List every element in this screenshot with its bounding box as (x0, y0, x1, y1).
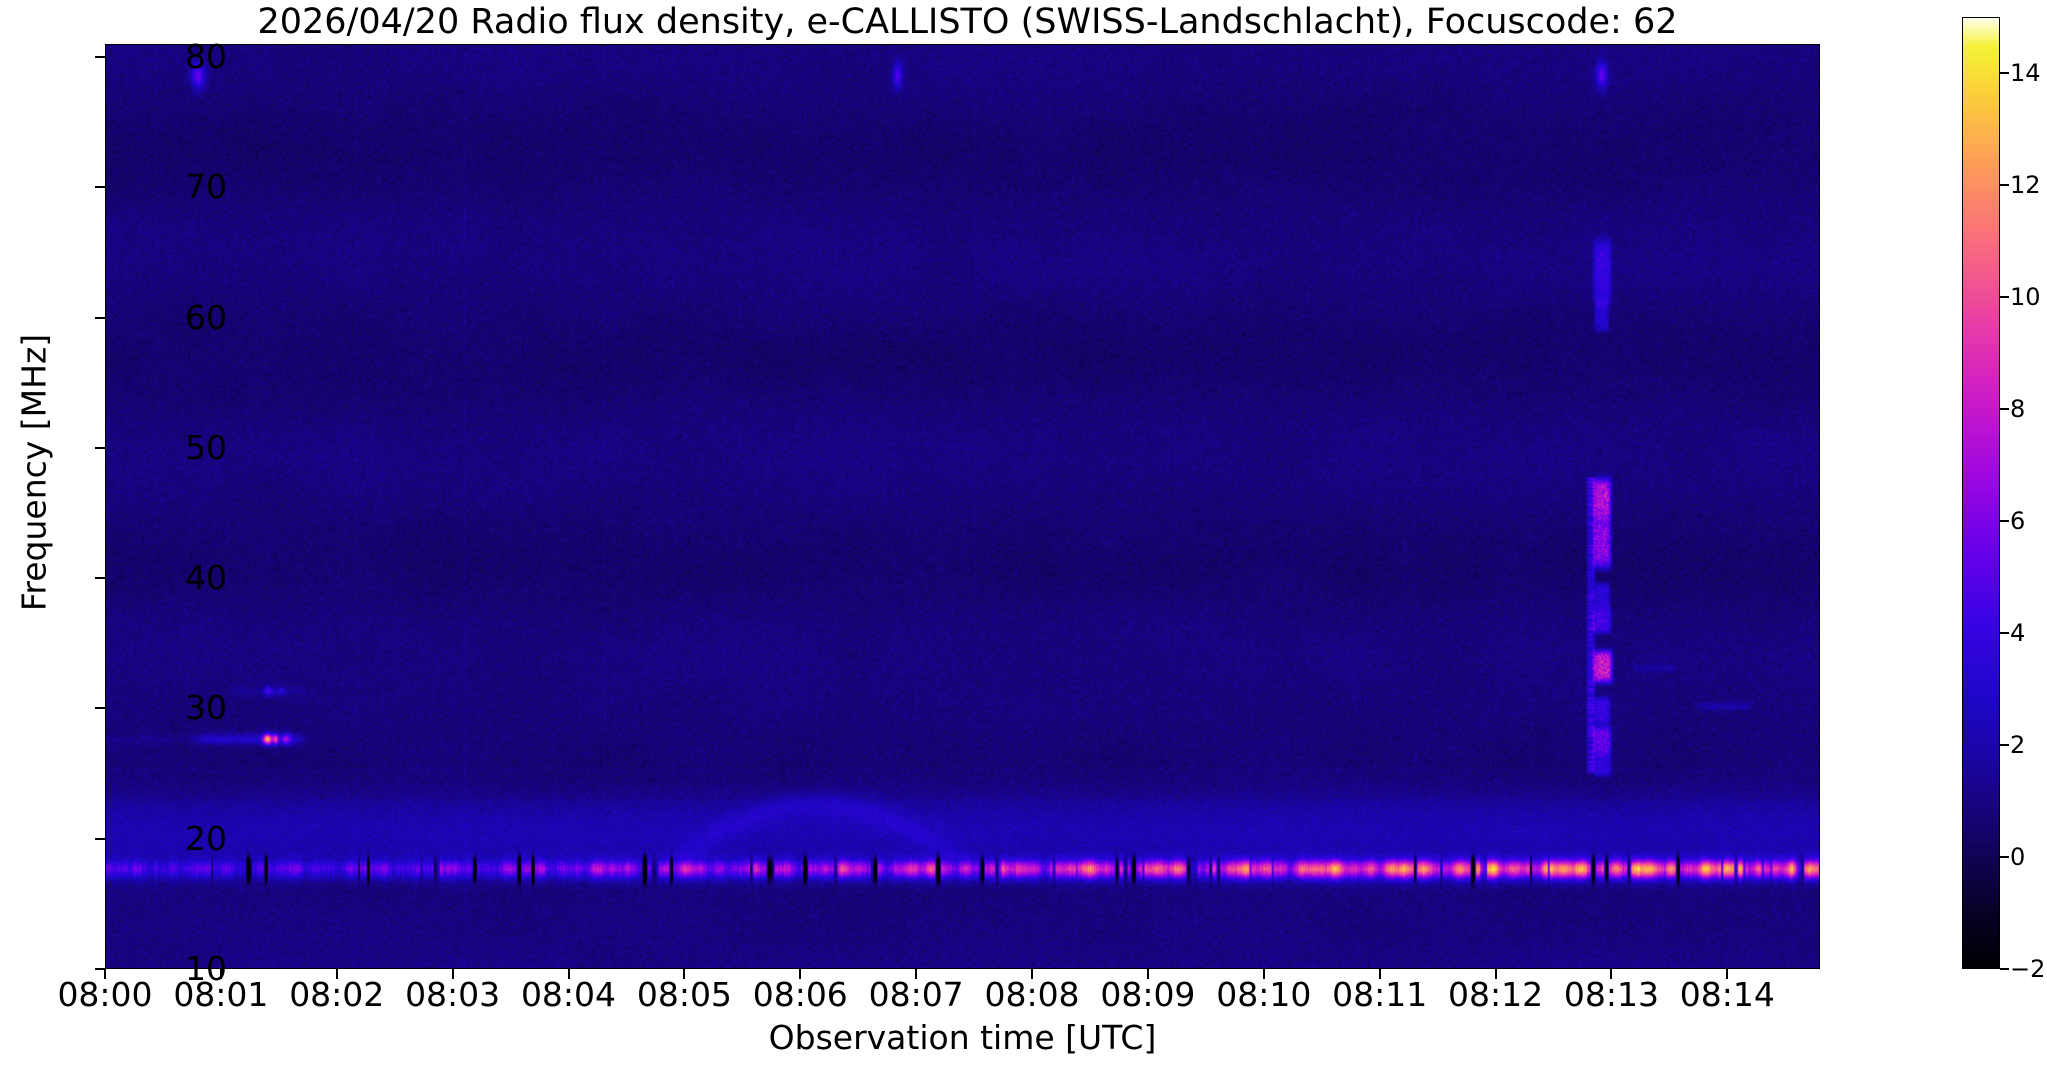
spectrogram-image (105, 44, 1820, 969)
y-tick-mark (95, 447, 105, 449)
y-tick-mark (95, 577, 105, 579)
x-tick-mark (1726, 969, 1728, 979)
y-tick-mark (95, 186, 105, 188)
colorbar-tick-mark (2000, 632, 2009, 634)
x-tick-mark (799, 969, 801, 979)
colorbar-tick-label: 0 (2010, 845, 2025, 869)
colorbar-tick-label: 14 (2010, 61, 2041, 85)
x-tick-label: 08:14 (1627, 978, 1827, 1011)
colorbar-tick-mark (2000, 968, 2009, 970)
colorbar-tick-mark (2000, 72, 2009, 74)
y-tick-mark (95, 317, 105, 319)
spectrogram-figure: 2026/04/20 Radio flux density, e-CALLIST… (0, 0, 2047, 1067)
x-tick-mark (1147, 969, 1149, 979)
colorbar-tick-label: 2 (2010, 733, 2025, 757)
colorbar-tick-mark (2000, 408, 2009, 410)
x-axis-label: Observation time [UTC] (105, 1020, 1820, 1056)
y-axis-label: Frequency [MHz] (18, 73, 51, 873)
x-tick-mark (1031, 969, 1033, 979)
colorbar-tick-label: 6 (2010, 509, 2025, 533)
y-tick-mark (95, 838, 105, 840)
colorbar-tick-label: 12 (2010, 173, 2041, 197)
x-tick-mark (1610, 969, 1612, 979)
x-tick-mark (915, 969, 917, 979)
colorbar-tick-label: 10 (2010, 285, 2041, 309)
colorbar-tick-mark (2000, 856, 2009, 858)
y-tick-mark (95, 56, 105, 58)
colorbar-tick-mark (2000, 296, 2009, 298)
x-tick-mark (220, 969, 222, 979)
spectrogram-plot-area (105, 44, 1820, 969)
colorbar-tick-mark (2000, 744, 2009, 746)
colorbar-tick-label: −2 (2010, 957, 2045, 981)
colorbar-gradient (1962, 17, 2000, 969)
y-tick-mark (95, 707, 105, 709)
colorbar-tick-label: 8 (2010, 397, 2025, 421)
x-tick-mark (1495, 969, 1497, 979)
x-tick-mark (104, 969, 106, 979)
y-tick-label: 80 (7, 40, 227, 73)
x-tick-mark (336, 969, 338, 979)
x-tick-mark (452, 969, 454, 979)
colorbar-tick-label: 4 (2010, 621, 2025, 645)
colorbar-tick-mark (2000, 520, 2009, 522)
page-title: 2026/04/20 Radio flux density, e-CALLIST… (105, 2, 1830, 42)
colorbar-tick-mark (2000, 184, 2009, 186)
x-tick-mark (568, 969, 570, 979)
colorbar (1962, 17, 2000, 969)
x-tick-mark (1263, 969, 1265, 979)
x-tick-mark (683, 969, 685, 979)
x-tick-mark (1379, 969, 1381, 979)
